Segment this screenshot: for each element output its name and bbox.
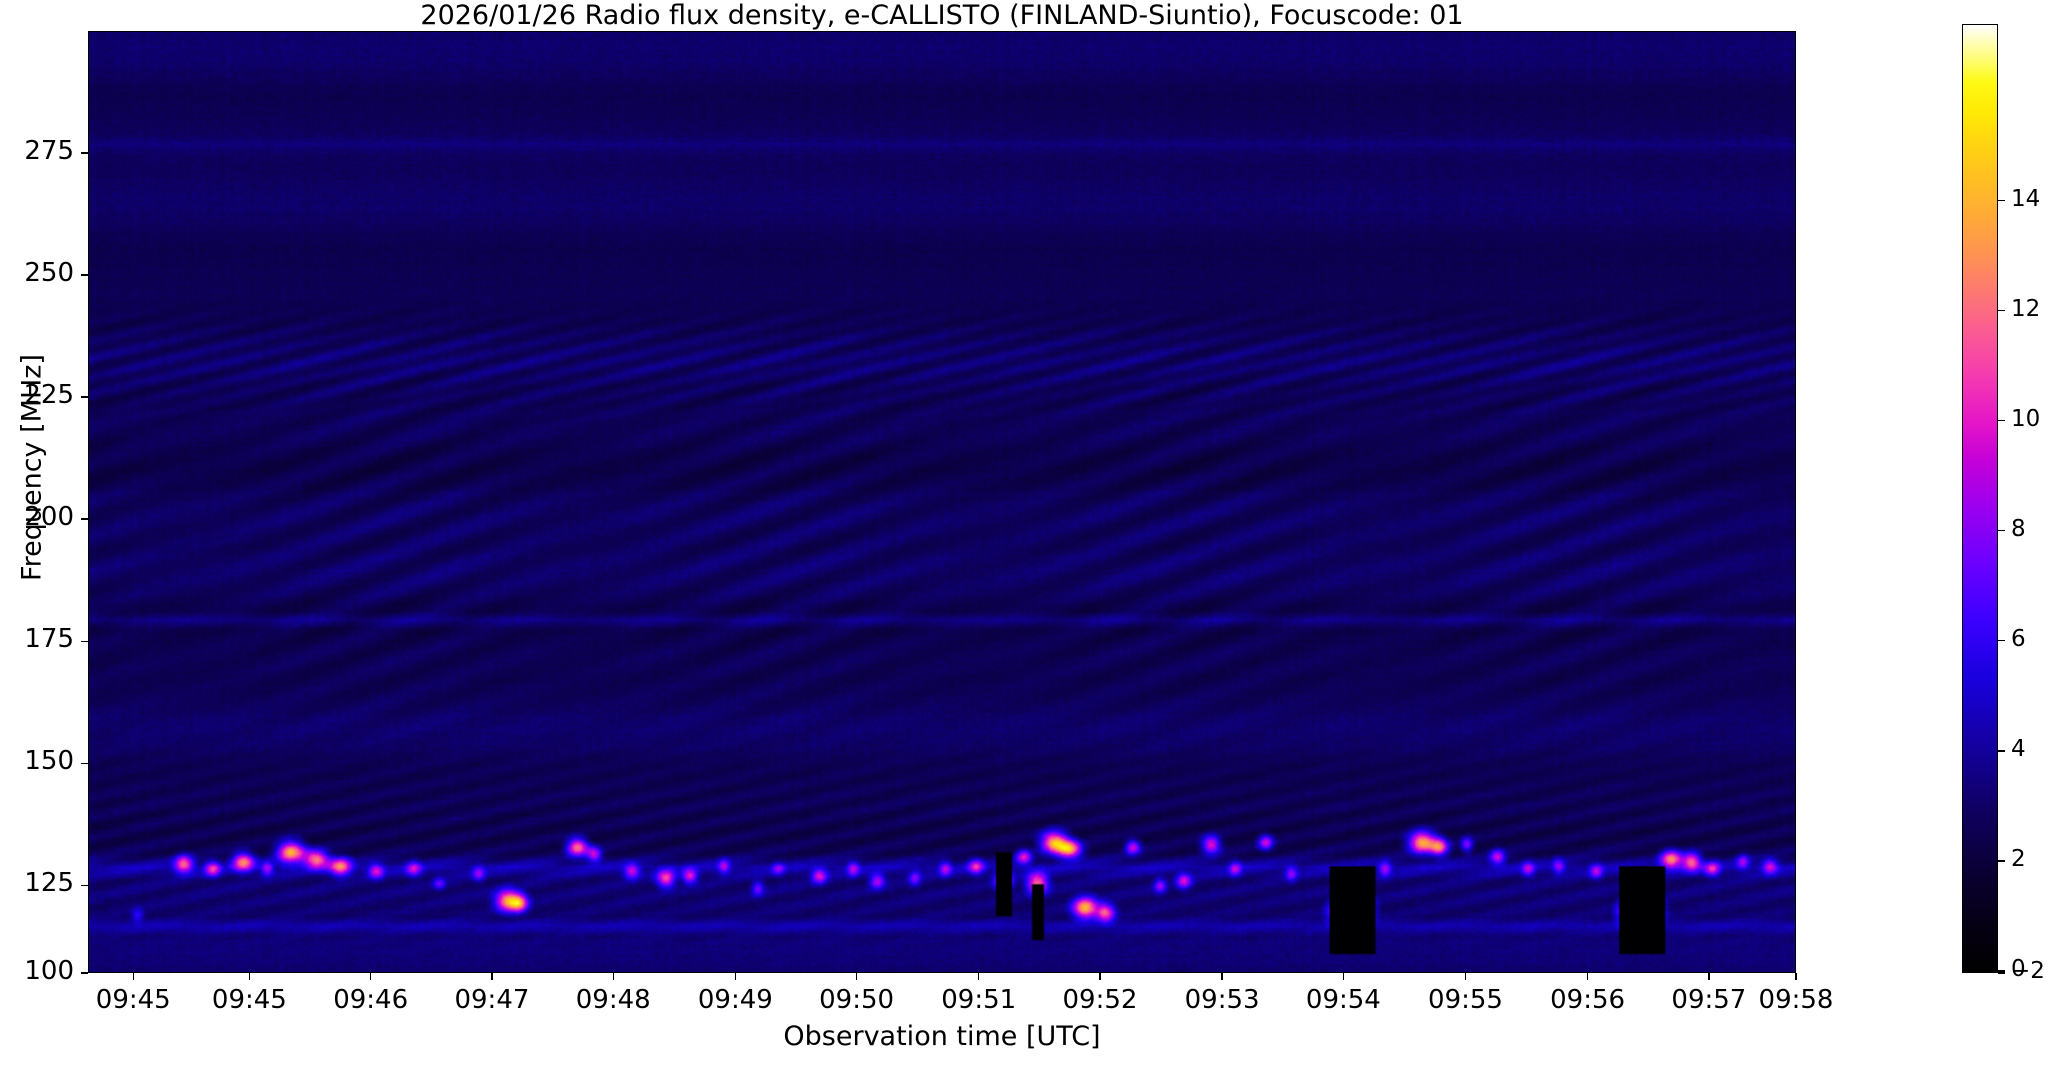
colorbar-tick-label: −2: [2011, 958, 2045, 984]
x-tick-label: 09:53: [1162, 985, 1282, 1015]
colorbar-gradient: [1962, 24, 1998, 973]
x-tick-mark: [491, 973, 492, 980]
x-tick-mark: [978, 973, 979, 980]
figure-canvas: 2026/01/26 Radio flux density, e-CALLIST…: [0, 0, 2066, 1067]
y-tick-mark: [81, 396, 88, 397]
y-tick-mark: [81, 972, 88, 973]
x-tick-mark: [613, 973, 614, 980]
x-tick-label: 09:50: [797, 985, 917, 1015]
x-tick-label: 09:45: [73, 985, 193, 1015]
x-tick-mark: [856, 973, 857, 980]
y-tick-label: 125: [0, 868, 74, 898]
y-tick-mark: [81, 518, 88, 519]
colorbar-tick-label: 14: [2011, 186, 2040, 212]
x-tick-mark: [249, 973, 250, 980]
x-tick-mark: [735, 973, 736, 980]
x-tick-label: 09:48: [553, 985, 673, 1015]
colorbar-tick-mark: [1998, 200, 2005, 201]
colorbar-tick-mark: [1998, 310, 2005, 311]
colorbar-tick-mark: [1998, 530, 2005, 531]
x-tick-mark: [1099, 973, 1100, 980]
x-tick-label: 09:46: [311, 985, 431, 1015]
x-tick-label: 09:49: [675, 985, 795, 1015]
x-tick-label: 09:47: [432, 985, 552, 1015]
y-tick-label: 100: [0, 956, 74, 986]
colorbar-tick-mark: [1998, 640, 2005, 641]
colorbar-tick-label: 4: [2011, 736, 2026, 762]
x-tick-label: 09:56: [1528, 985, 1648, 1015]
colorbar-tick-label: 6: [2011, 626, 2026, 652]
colorbar-tick-mark: [1998, 860, 2005, 861]
x-tick-mark: [370, 973, 371, 980]
x-axis-label: Observation time [UTC]: [88, 1021, 1796, 1052]
y-tick-label: 275: [0, 136, 74, 166]
x-tick-mark: [1221, 973, 1222, 980]
colorbar-tick-mark: [1998, 972, 2005, 973]
y-tick-mark: [81, 152, 88, 153]
x-tick-label: 09:45: [189, 985, 309, 1015]
x-tick-mark: [1795, 973, 1796, 980]
page-title: 2026/01/26 Radio flux density, e-CALLIST…: [88, 2, 1796, 30]
colorbar: 14121086420−2: [1962, 24, 1998, 973]
x-tick-label: 09:54: [1283, 985, 1403, 1015]
y-tick-label: 150: [0, 746, 74, 776]
x-tick-mark: [1465, 973, 1466, 980]
spectrogram-axes: [88, 31, 1796, 973]
x-tick-mark: [1343, 973, 1344, 980]
x-tick-label: 09:52: [1040, 985, 1160, 1015]
y-tick-mark: [81, 641, 88, 642]
colorbar-tick-label: 12: [2011, 296, 2040, 322]
colorbar-tick-label: 2: [2011, 846, 2026, 872]
y-tick-mark: [81, 274, 88, 275]
colorbar-tick-mark: [1998, 750, 2005, 751]
colorbar-tick-label: 8: [2011, 516, 2026, 542]
x-tick-label: 09:58: [1736, 985, 1856, 1015]
y-axis-label: Frequency [MHz]: [17, 268, 48, 668]
y-tick-mark: [81, 885, 88, 886]
x-tick-mark: [133, 973, 134, 980]
spectrogram-image: [89, 32, 1795, 972]
x-tick-label: 09:55: [1406, 985, 1526, 1015]
colorbar-tick-label: 10: [2011, 406, 2040, 432]
x-tick-label: 09:51: [919, 985, 1039, 1015]
y-tick-mark: [81, 763, 88, 764]
colorbar-tick-mark: [1998, 420, 2005, 421]
x-tick-mark: [1708, 973, 1709, 980]
x-tick-mark: [1587, 973, 1588, 980]
